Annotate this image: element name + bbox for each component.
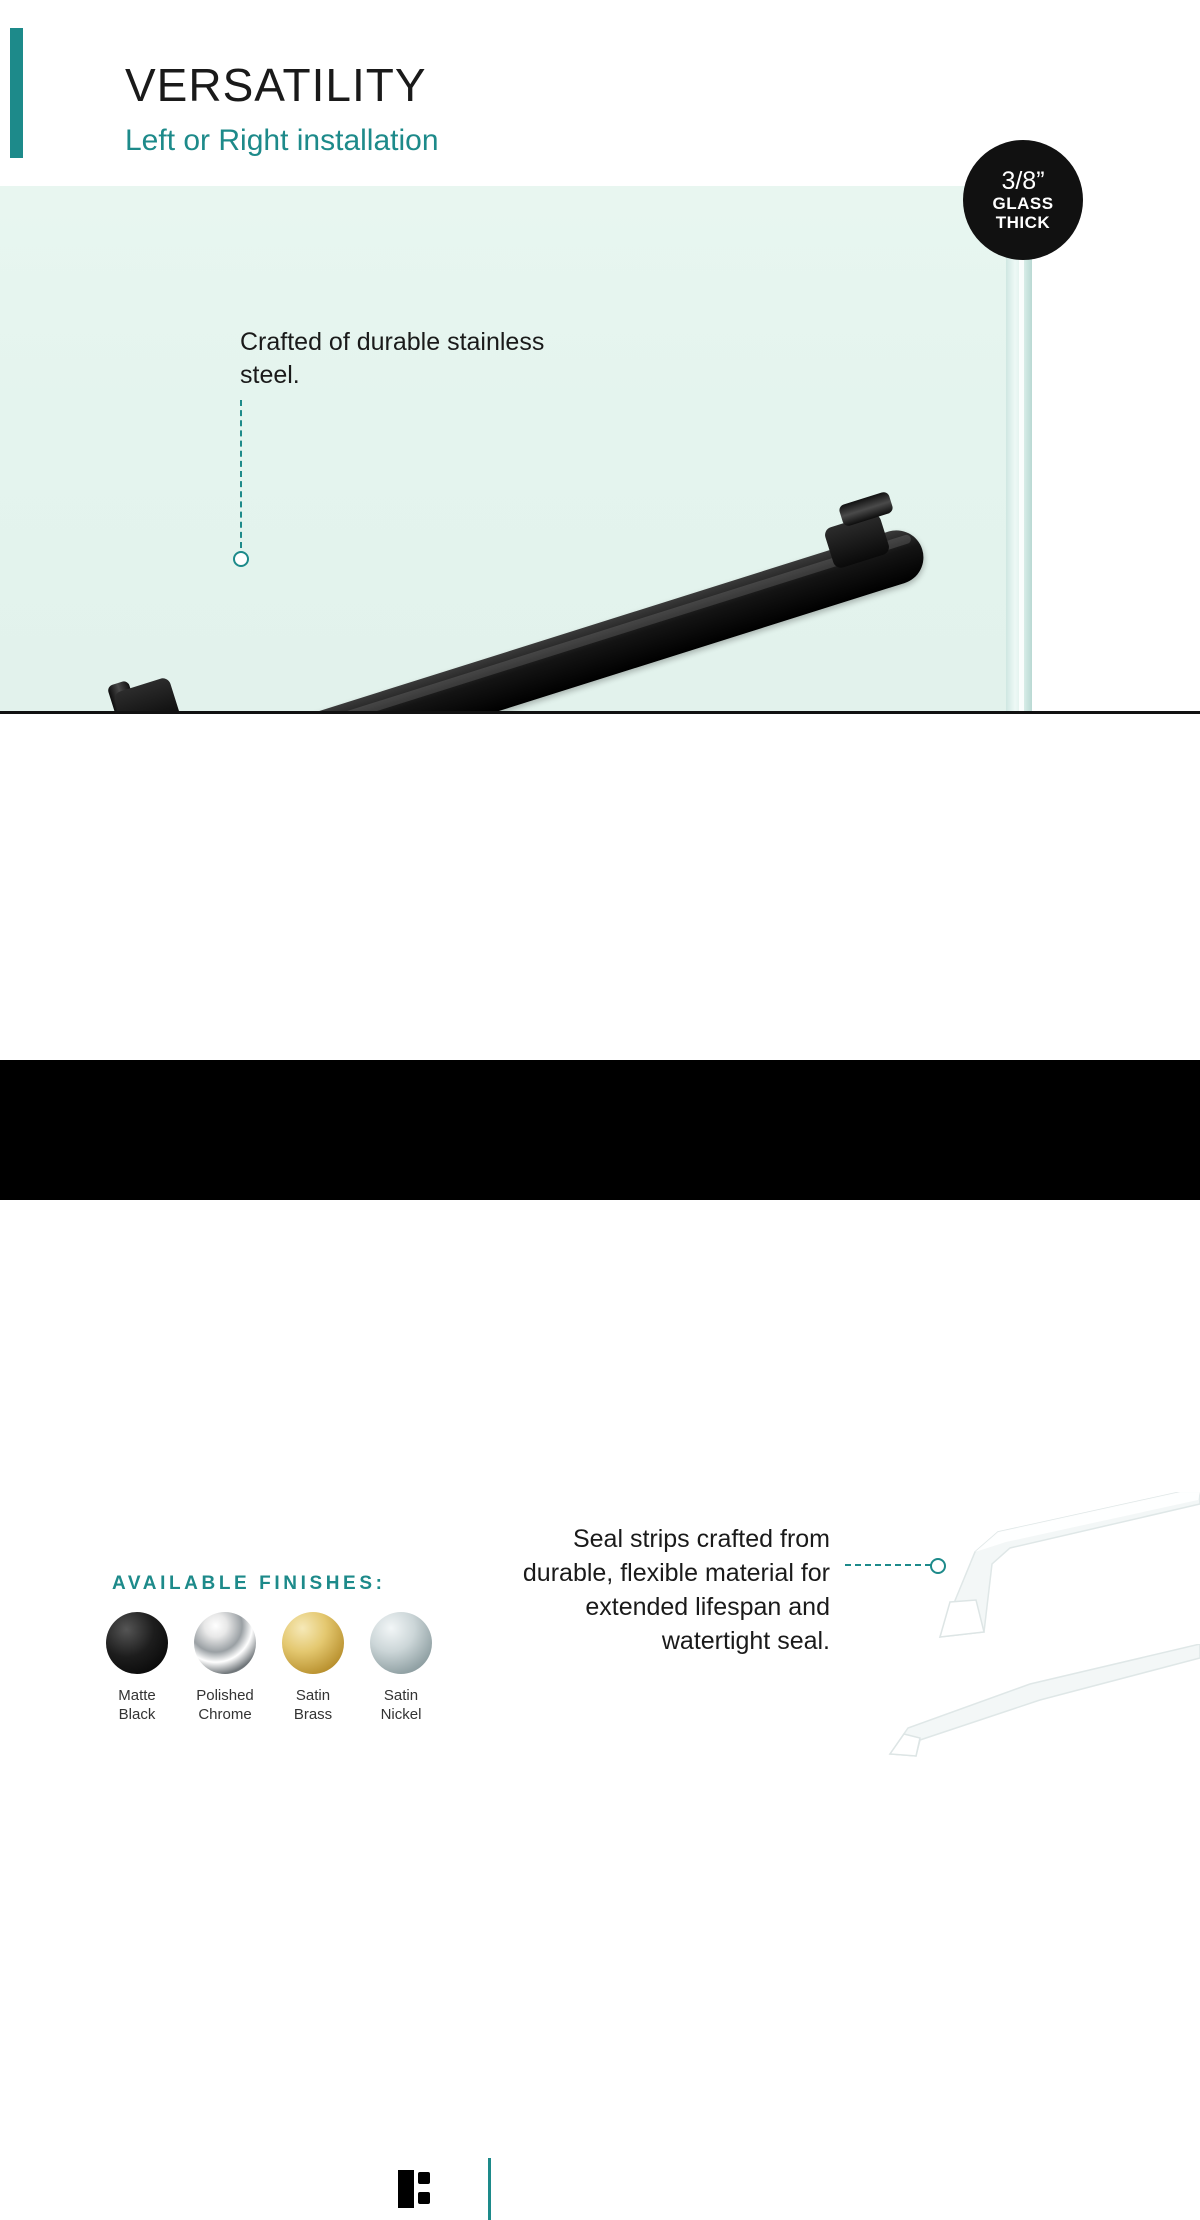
swatch-dot-matte-black xyxy=(106,1612,168,1674)
swatch-dot-satin-nickel xyxy=(370,1612,432,1674)
page-subtitle: Left or Right installation xyxy=(125,126,439,156)
glass-panel-illustration xyxy=(0,186,1200,711)
page-title: VERSATILITY xyxy=(125,62,427,108)
swatch-label-line1: Polished xyxy=(192,1686,258,1705)
brand-logo-block-top xyxy=(418,2172,430,2184)
handle-callout-anchor-dot xyxy=(233,551,249,567)
accent-bar xyxy=(10,28,23,158)
handle-callout-text: Crafted of durable stainless steel. xyxy=(240,326,570,392)
swatch-label-line1: Satin xyxy=(368,1686,434,1705)
seal-callout-text: Seal strips crafted from durable, flexib… xyxy=(520,1522,830,1658)
finish-swatch-polished-chrome[interactable]: Polished Chrome xyxy=(192,1612,258,1724)
door-handle-illustration xyxy=(110,486,990,711)
glass-thickness-badge: 3/8” GLASS THICK xyxy=(963,140,1083,260)
footer-product-name: SHOWER DOOR xyxy=(530,2168,723,2194)
panel-right-background xyxy=(1032,186,1200,711)
swatch-label-line1: Matte xyxy=(104,1686,170,1705)
handle-bar xyxy=(180,523,931,711)
handle-callout-leader-line xyxy=(240,400,242,548)
swatch-dot-satin-brass xyxy=(282,1612,344,1674)
badge-thickness-value: 3/8” xyxy=(1001,168,1044,195)
swatch-label-line2: Nickel xyxy=(368,1705,434,1724)
badge-thick-label: THICK xyxy=(996,214,1050,232)
swatch-label-line2: Chrome xyxy=(192,1705,258,1724)
product-info-graphic: VERSATILITY Left or Right installation C… xyxy=(0,0,1200,1200)
finish-swatch-satin-nickel[interactable]: Satin Nickel xyxy=(368,1612,434,1724)
footer: SHOWER DOOR SLIDING FRAMELESS - 54” x 80… xyxy=(0,1060,1200,1200)
seal-callout-anchor-dot xyxy=(930,1558,946,1574)
finish-swatch-matte-black[interactable]: Matte Black xyxy=(104,1612,170,1724)
swatch-label-line2: Brass xyxy=(280,1705,346,1724)
badge-glass-label: GLASS xyxy=(992,195,1053,213)
brand-logo-block-bottom xyxy=(418,2192,430,2204)
swatch-dot-polished-chrome xyxy=(194,1612,256,1674)
footer-product-spec: SLIDING FRAMELESS - 54” x 80” xyxy=(530,2200,766,2215)
finishes-and-seal-section: Seal strips crafted from durable, flexib… xyxy=(0,711,1200,1063)
glass-edge-highlight xyxy=(1019,248,1024,711)
seal-strip-lower xyxy=(880,1644,1200,1764)
brand-logo-stem xyxy=(398,2170,414,2208)
footer-divider xyxy=(488,2158,491,2220)
seal-strip-upper xyxy=(880,1492,1200,1642)
available-finishes-heading: AVAILABLE FINISHES: xyxy=(112,1573,386,1595)
swatch-label-line2: Black xyxy=(104,1705,170,1724)
finish-swatch-list: Matte Black Polished Chrome Satin Brass … xyxy=(104,1612,474,1724)
seal-callout-leader-line xyxy=(845,1564,931,1566)
finish-swatch-satin-brass[interactable]: Satin Brass xyxy=(280,1612,346,1724)
swatch-label-line1: Satin xyxy=(280,1686,346,1705)
